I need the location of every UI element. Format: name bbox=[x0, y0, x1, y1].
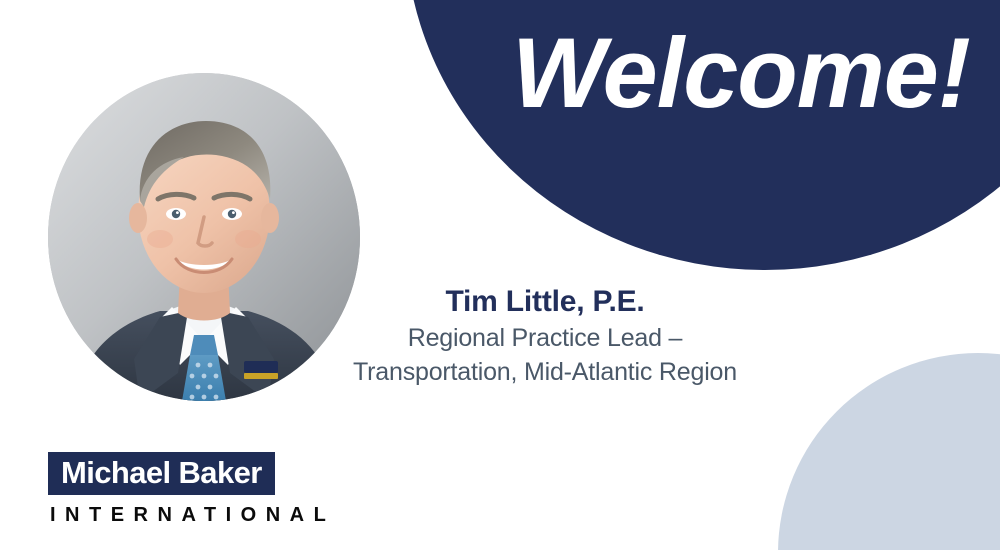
person-role-line-2: Transportation, Mid-Atlantic Region bbox=[315, 355, 775, 390]
portrait-photo-icon bbox=[48, 73, 360, 401]
person-role-line-1: Regional Practice Lead – bbox=[315, 321, 775, 356]
light-blue-circle-decoration bbox=[778, 353, 1000, 550]
welcome-headline: Welcome! bbox=[512, 23, 970, 122]
logo-primary-text: Michael Baker bbox=[48, 452, 275, 495]
company-logo: Michael Baker INTERNATIONAL bbox=[48, 452, 335, 525]
person-name: Tim Little, P.E. bbox=[315, 284, 775, 321]
logo-secondary-text: INTERNATIONAL bbox=[48, 505, 335, 525]
avatar bbox=[48, 73, 360, 401]
welcome-slide: Welcome! bbox=[0, 0, 1000, 550]
person-info-block: Tim Little, P.E. Regional Practice Lead … bbox=[315, 284, 775, 390]
